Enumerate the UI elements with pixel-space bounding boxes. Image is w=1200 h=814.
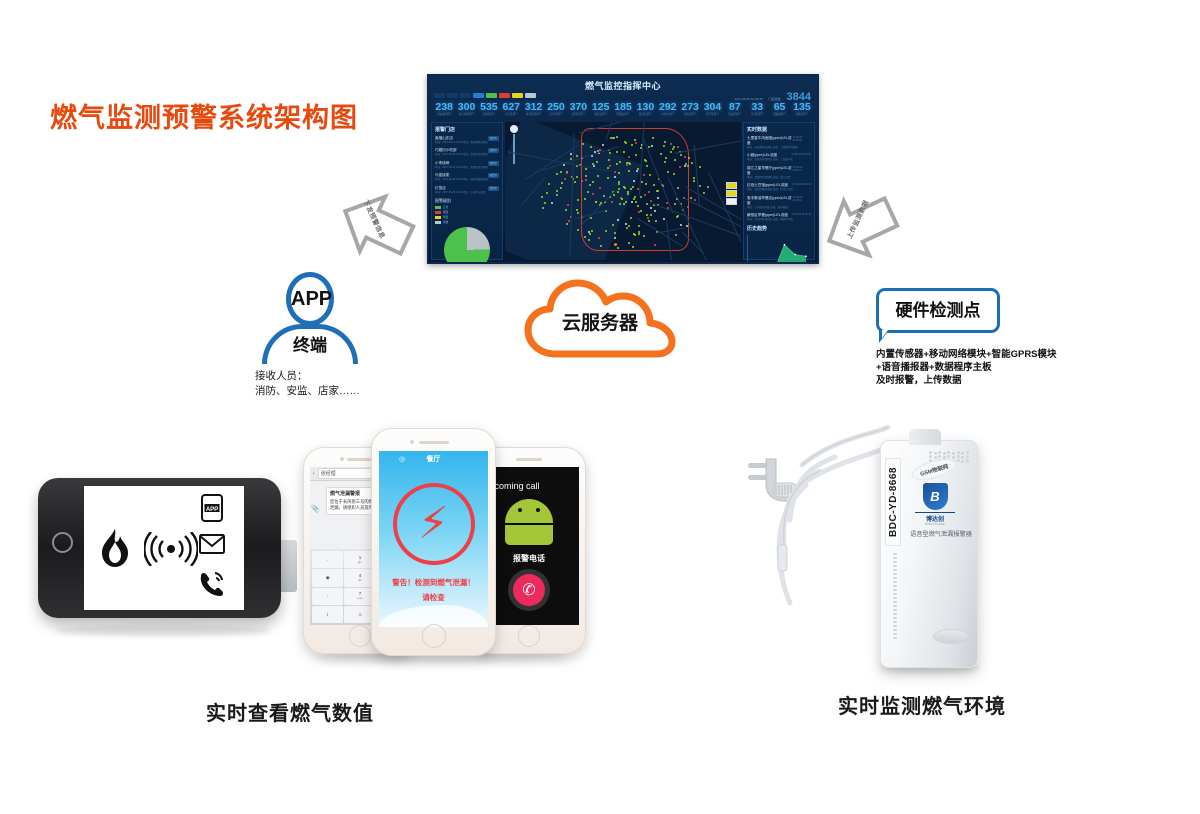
map-dot: [693, 177, 695, 179]
map-dot: [585, 175, 587, 177]
legend-title: 报警级别: [435, 198, 499, 204]
chip-status-warning[interactable]: [512, 93, 523, 98]
map-dot: [687, 165, 689, 167]
map-layer-button-3[interactable]: [726, 198, 737, 205]
detector-indicator: [933, 629, 969, 644]
alarm-header: ◎ 餐厅: [379, 451, 488, 467]
chip-normal[interactable]: [447, 93, 458, 98]
map-dot: [645, 183, 647, 185]
stat-item: 185阳曲县燃气: [612, 102, 634, 117]
alert-tag: 报警中: [488, 136, 499, 141]
keypad-key[interactable]: ◉: [312, 569, 343, 586]
alert-panel-title: 报警门店: [435, 126, 499, 133]
chip-all[interactable]: [434, 93, 445, 98]
map-dot: [566, 172, 568, 174]
legend-swatch: [435, 216, 441, 219]
stat-item: 312杏花岭区燃气: [522, 102, 544, 117]
android-robot-icon: [505, 499, 553, 545]
map-dot: [670, 151, 672, 153]
stat-item: 238万柏林区燃气: [433, 102, 455, 117]
map-dot: [618, 183, 620, 185]
app-terminal-body: 终端: [262, 324, 358, 364]
map-dot: [690, 197, 692, 199]
map-dot: [635, 201, 637, 203]
map-zoom-slider[interactable]: [510, 125, 518, 165]
hardware-note-line3: 及时报警，上传数据: [876, 374, 1057, 387]
map-dot: [688, 157, 690, 159]
phone-call-icon: [197, 570, 225, 603]
keypad-key-main: ☺: [358, 612, 363, 617]
dashboard-stat-row: 238万柏林区燃气300中心城区燃气535晋源区燃气627小店区燃气312杏花岭…: [433, 102, 813, 117]
stat-value: 87: [724, 102, 746, 113]
realtime-list[interactable]: 七里香牛肉面馆(ppm)LEL浓度17-05-26 16:38:45地址：万柏林…: [747, 136, 811, 221]
map-dot: [546, 192, 548, 194]
stat-value: 304: [701, 102, 723, 113]
map-dot: [640, 196, 642, 198]
detector-model-text: BDC-YD-8668: [888, 467, 899, 537]
realtime-detail: 地址：万柏林区长风街 店铺：七里香牛肉面馆: [747, 146, 811, 149]
cloud-server-label: 云服务器: [524, 308, 676, 335]
stat-item: 87综改区燃气: [724, 102, 746, 117]
map-dot: [637, 205, 639, 207]
page-title: 燃气监测预警系统架构图: [50, 96, 358, 135]
map-dot: [599, 187, 601, 189]
alert-detail: 时间：2017-05-26 16:21 地址：杏花岭区胜利街: [435, 153, 499, 156]
history-trend-chart: [747, 235, 811, 264]
dashboard-map[interactable]: [505, 122, 741, 260]
alarm-message-line1: 警告！检测到燃气泄漏！: [379, 577, 488, 588]
app-phone-icon: APP: [201, 494, 223, 527]
chip-offline[interactable]: [460, 93, 471, 98]
chip-status-normal[interactable]: [486, 93, 497, 98]
alert-detail: 时间：2017-05-26 15:12 地址：小店区长治路: [435, 191, 499, 194]
alarm-ring: ⚡: [393, 483, 475, 565]
map-dot: [585, 179, 587, 181]
brand-name: 博达创: [915, 512, 955, 523]
map-dot: [587, 191, 589, 193]
map-zoom-track[interactable]: [513, 134, 515, 164]
alert-list[interactable]: 鑫福山庄店报警中时间：2017-05-26 16:33 地址：万柏林区长风街巧媳…: [435, 136, 499, 194]
map-legend: 报警级别 正常报警预警离线: [435, 198, 499, 224]
keypad-key-main: .: [327, 557, 328, 562]
phone-speaker: [419, 441, 449, 444]
map-dot: [699, 185, 701, 187]
map-dot: [635, 154, 637, 156]
map-dot: [556, 194, 558, 196]
map-dot: [647, 217, 649, 219]
arrow-upstream: 上传监测数据: [822, 192, 900, 263]
cloud-server-icon: 云服务器: [524, 278, 676, 360]
map-dot: [626, 227, 628, 229]
detector-model-label: BDC-YD-8668: [885, 458, 901, 546]
hardware-note-line1: 内置传感器+移动网络模块+智能GPRS模块: [876, 348, 1057, 361]
map-dot: [576, 209, 578, 211]
paperclip-icon[interactable]: 📎: [310, 481, 321, 521]
stat-value: 238: [433, 102, 455, 113]
tablet-shadow: [55, 625, 270, 636]
realtime-name: 七里香牛肉面馆(ppm)LEL浓度: [747, 136, 793, 146]
realtime-name: 惠丰粮油早餐店(ppm)LEL浓度: [747, 196, 793, 206]
stat-value: 135: [791, 102, 813, 113]
map-dot: [693, 180, 695, 182]
map-dot: [627, 191, 629, 193]
legend-swatch: [435, 211, 441, 214]
stat-caption: 经开区燃气: [701, 113, 723, 117]
stat-value: 33: [746, 102, 768, 113]
realtime-time: 17-05-26 16:31:27: [793, 166, 811, 176]
map-dot: [631, 201, 633, 203]
alarm-header-title: 餐厅: [427, 454, 441, 464]
map-dot: [675, 234, 677, 236]
map-dot: [636, 170, 638, 172]
realtime-time: 17-05-26 16:36:02: [791, 153, 811, 158]
keypad-key-main: ◉: [326, 575, 330, 580]
realtime-detail: 地址：尖草坪区迎新街 店铺：解放区早餐: [747, 218, 811, 221]
phone-home-button[interactable]: [422, 624, 446, 648]
map-dot: [677, 187, 679, 189]
alert-item[interactable]: 巧媳妇小吃部报警中时间：2017-05-26 16:21 地址：杏花岭区胜利街: [435, 148, 499, 156]
alert-item[interactable]: 小李烧烤报警中时间：2017-05-26 16:02 地址：晋源区新晋祠路: [435, 161, 499, 169]
alarm-message-line2: 请检查: [379, 592, 488, 603]
hardware-point-box: 硬件检测点: [876, 288, 1000, 333]
hardware-note-line2: +语音播报器+数据程序主板: [876, 361, 1057, 374]
stat-value: 250: [545, 102, 567, 113]
dashboard-screen: 燃气监控指挥中心 2017-05-26 16:38:45 门店总数 3844 2…: [427, 74, 819, 264]
map-dot: [703, 192, 705, 194]
stat-item: 627小店区燃气: [500, 102, 522, 117]
stat-item: 135其他区燃气: [791, 102, 813, 117]
dashboard-realtime-panel: 实时数据 七里香牛肉面馆(ppm)LEL浓度17-05-26 16:38:45地…: [743, 122, 815, 260]
hardware-box-tail-inner: [882, 330, 888, 338]
realtime-time: 17-05-26 16:28:10: [791, 183, 811, 188]
map-dot: [556, 173, 558, 175]
stat-value: 370: [567, 102, 589, 113]
map-dot: [648, 146, 650, 148]
phone-home-button[interactable]: [349, 625, 371, 647]
legend-label: 离线: [443, 220, 448, 224]
stat-caption: 万柏林区燃气: [433, 113, 455, 117]
stat-item: 130娄烦县燃气: [634, 102, 656, 117]
legend-label: 预警: [443, 215, 448, 219]
alert-item[interactable]: 马富烧麦报警中时间：2017-05-26 15:46 地址：迎泽区解放南路: [435, 173, 499, 181]
map-dot: [609, 152, 611, 154]
realtime-panel-title: 实时数据: [747, 126, 811, 133]
map-dot: [589, 184, 591, 186]
realtime-item[interactable]: 红烧土豆馆(ppm)LEL浓度17-05-26 16:28:10地址：迎泽区解放…: [747, 183, 811, 191]
realtime-detail: 地址：小店区长治路 店铺：惠丰粮油: [747, 206, 811, 209]
keypad-key-sub: pqrs: [357, 596, 362, 601]
detector-brand-logo: B 博达创 BODACHUANG: [915, 483, 955, 526]
tablet-home-button[interactable]: [52, 532, 73, 553]
keypad-key-sub: @/:: [358, 560, 362, 565]
alert-tag: 报警中: [488, 148, 499, 153]
map-dot: [707, 186, 709, 188]
gas-detector-device: BDC-YD-8668 GSM物联网 B 博达创 BODACHUANG 语音型燃…: [880, 440, 978, 668]
stat-item: 250尖草坪燃气: [545, 102, 567, 117]
alert-detail: 时间：2017-05-26 15:46 地址：迎泽区解放南路: [435, 178, 499, 181]
stat-item: 125清徐县燃气: [590, 102, 612, 117]
map-dot: [551, 202, 553, 204]
brand-mark-icon: B: [923, 483, 948, 510]
map-dot: [619, 161, 621, 163]
chip-status-alarm[interactable]: [499, 93, 510, 98]
map-dot: [621, 198, 623, 200]
realtime-detail: 地址：杏花岭区胜利街 店铺：上海城小吃: [747, 158, 811, 161]
stat-caption: 迎泽区燃气: [567, 113, 589, 117]
map-dot: [610, 137, 612, 139]
alert-tag: 报警中: [488, 173, 499, 178]
map-dot: [653, 184, 655, 186]
terminal-note-line2: 消防、安监、店家……: [255, 384, 360, 399]
stat-caption: 娄烦县燃气: [634, 113, 656, 117]
stat-item: 65阳曲镇燃气: [768, 102, 790, 117]
phone-hangup-icon[interactable]: ✆: [513, 574, 545, 606]
map-dot: [626, 162, 628, 164]
trend-svg: [748, 237, 810, 264]
map-dot: [684, 165, 686, 167]
map-dot: [577, 229, 579, 231]
map-dot: [664, 141, 666, 143]
legend-item: 离线: [435, 220, 499, 224]
tablet-screen: APP: [84, 486, 244, 610]
stat-value: 125: [590, 102, 612, 113]
alert-detail: 时间：2017-05-26 16:02 地址：晋源区新晋祠路: [435, 166, 499, 169]
map-dot: [632, 246, 634, 248]
map-dot: [674, 159, 676, 161]
stat-value: 185: [612, 102, 634, 113]
map-dot: [582, 143, 584, 145]
map-dot: [541, 196, 543, 198]
map-dot: [628, 225, 630, 227]
realtime-item[interactable]: 锦江之星早餐厅(ppm)LEL浓度17-05-26 16:31:27地址：晋源区…: [747, 166, 811, 179]
map-dot: [581, 180, 583, 182]
keypad-key[interactable]: :: [312, 588, 343, 605]
stat-caption: 阳曲镇燃气: [768, 113, 790, 117]
map-dot: [612, 224, 614, 226]
stat-item: 273高新区燃气: [679, 102, 701, 117]
status-pie-chart: [444, 227, 490, 264]
stat-caption: 晋源区燃气: [478, 113, 500, 117]
phone-speaker: [516, 458, 542, 461]
stat-item: 304经开区燃气: [701, 102, 723, 117]
stat-item: 370迎泽区燃气: [567, 102, 589, 117]
stat-caption: 杏花岭区燃气: [522, 113, 544, 117]
map-dot: [617, 191, 619, 193]
phone-camera: [410, 440, 414, 444]
map-dot: [694, 199, 696, 201]
keypad-key-main: :: [327, 594, 328, 599]
phone-alarm: ◎ 餐厅 ⚡ 警告！检测到燃气泄漏！ 请检查: [371, 428, 496, 656]
alert-item[interactable]: 鑫福山庄店报警中时间：2017-05-26 16:33 地址：万柏林区长风街: [435, 136, 499, 144]
phone-alarm-screen: ◎ 餐厅 ⚡ 警告！检测到燃气泄漏！ 请检查: [379, 451, 488, 627]
legend-label: 正常: [443, 205, 448, 209]
detector-gsm-badge-text: GSM物联网: [919, 462, 949, 478]
stat-caption: 示范区燃气: [746, 113, 768, 117]
lightning-bolt-icon: ⚡: [418, 502, 449, 546]
stat-value: 65: [768, 102, 790, 113]
map-dot: [646, 165, 648, 167]
hardware-note: 内置传感器+移动网络模块+智能GPRS模块 +语音播报器+数据程序主板 及时报警…: [876, 348, 1057, 387]
alert-tag: 报警中: [488, 161, 499, 166]
alert-tag: 报警中: [488, 186, 499, 191]
stat-caption: 尖草坪燃气: [545, 113, 567, 117]
stat-caption: 其他区燃气: [791, 113, 813, 117]
envelope-icon: [199, 534, 225, 559]
stat-value: 312: [522, 102, 544, 113]
map-road: [694, 145, 700, 207]
app-terminal-head: APP: [286, 272, 334, 326]
realtime-item[interactable]: 惠丰粮油早餐店(ppm)LEL浓度17-05-26 16:19:44地址：小店区…: [747, 196, 811, 209]
app-terminal-head-label: APP: [291, 277, 329, 321]
chip-status-offline[interactable]: [525, 93, 536, 98]
realtime-time: 17-05-26 16:38:45: [793, 136, 811, 146]
stat-caption: 清徐县燃气: [590, 113, 612, 117]
chip-alarm[interactable]: [473, 93, 484, 98]
dashboard-filter-chips[interactable]: [434, 93, 536, 98]
caption-right: 实时监测燃气环境: [838, 690, 1006, 719]
stat-item: 535晋源区燃气: [478, 102, 500, 117]
realtime-time: 17-05-26 16:19:44: [793, 196, 811, 206]
svg-text:APP: APP: [206, 507, 218, 513]
detector-description: 语音型燃气泄漏报警器: [907, 529, 975, 538]
stat-value: 292: [657, 102, 679, 113]
phone-home-button[interactable]: [518, 625, 540, 647]
stat-caption: 阳曲县燃气: [612, 113, 634, 117]
keypad-key-sub: ghi: [358, 578, 362, 583]
map-dot: [603, 195, 605, 197]
realtime-item[interactable]: 七里香牛肉面馆(ppm)LEL浓度17-05-26 16:38:45地址：万柏林…: [747, 136, 811, 149]
realtime-item[interactable]: 解放区早餐(ppm)LEL浓度17-05-26 16:05:33地址：尖草坪区迎…: [747, 213, 811, 221]
map-dot: [591, 230, 593, 232]
map-dot: [699, 166, 701, 168]
stat-value: 627: [500, 102, 522, 113]
brand-name-en: BODACHUANG: [915, 523, 955, 526]
flame-icon: [100, 528, 130, 573]
stat-item: 292古交市燃气: [657, 102, 679, 117]
legend-item: 正常: [435, 205, 499, 209]
stat-caption: 综改区燃气: [724, 113, 746, 117]
keypad-key[interactable]: .: [312, 551, 343, 568]
hardware-point-title: 硬件检测点: [879, 291, 997, 330]
map-dot: [616, 151, 618, 153]
map-dot: [570, 153, 572, 155]
stat-caption: 小店区燃气: [500, 113, 522, 117]
stat-item: 33示范区燃气: [746, 102, 768, 117]
stat-value: 130: [634, 102, 656, 113]
map-dot: [629, 163, 631, 165]
legend-swatch: [435, 206, 441, 209]
alert-name: 灯笼店: [435, 186, 446, 191]
sms-back-button[interactable]: ‹: [313, 471, 315, 477]
alert-detail: 时间：2017-05-26 16:33 地址：万柏林区长风街: [435, 141, 499, 144]
stat-caption: 高新区燃气: [679, 113, 701, 117]
terminal-note: 接收人员： 消防、安监、店家……: [255, 369, 360, 399]
stat-caption: 中心城区燃气: [455, 113, 477, 117]
stat-value: 300: [455, 102, 477, 113]
map-dot: [597, 175, 599, 177]
dashboard-alert-panel: 报警门店 鑫福山庄店报警中时间：2017-05-26 16:33 地址：万柏林区…: [431, 122, 503, 260]
tablet-device: APP: [38, 478, 281, 618]
realtime-item[interactable]: 小超(ppm)LEL浓度17-05-26 16:36:02地址：杏花岭区胜利街 …: [747, 153, 811, 161]
map-dot: [614, 176, 616, 178]
arrow-downstream: 下发预警信息: [338, 192, 416, 263]
realtime-name: 锦江之星早餐厅(ppm)LEL浓度: [747, 166, 793, 176]
map-layer-button-1[interactable]: [726, 182, 737, 189]
map-dot: [618, 188, 620, 190]
map-dot: [643, 174, 645, 176]
map-dot: [556, 190, 558, 192]
map-dot: [584, 198, 586, 200]
legend-item: 预警: [435, 215, 499, 219]
map-dot: [663, 145, 665, 147]
map-dot: [672, 148, 674, 150]
stat-value: 273: [679, 102, 701, 113]
detector-side-grill: [893, 553, 898, 639]
signal-wave-icon: [144, 532, 198, 571]
legend-item: 报警: [435, 210, 499, 214]
realtime-detail: 地址：晋源区新晋祠路 店铺：锦江之星: [747, 176, 811, 179]
map-dot: [670, 143, 672, 145]
map-dot: [618, 172, 620, 174]
phone-camera: [340, 457, 344, 461]
map-dot: [667, 171, 669, 173]
legend-label: 报警: [443, 210, 448, 214]
legend-swatch: [435, 221, 441, 224]
phone-speaker: [347, 458, 373, 461]
caption-left: 实时查看燃气数值: [206, 697, 374, 726]
map-zoom-knob[interactable]: [510, 125, 518, 133]
trend-title: 历史趋势: [747, 225, 811, 232]
location-pin-icon: ◎: [399, 455, 405, 463]
stat-caption: 古交市燃气: [657, 113, 679, 117]
map-dot: [607, 167, 609, 169]
terminal-note-line1: 接收人员：: [255, 369, 360, 384]
app-terminal-body-label: 终端: [267, 329, 353, 363]
map-dot: [609, 165, 611, 167]
keypad-key-main: /: [327, 612, 328, 617]
stat-item: 300中心城区燃气: [455, 102, 477, 117]
map-dot: [656, 190, 658, 192]
keypad-key[interactable]: /: [312, 606, 343, 623]
realtime-time: 17-05-26 16:05:33: [791, 213, 811, 218]
map-dot: [619, 203, 621, 205]
stat-value: 535: [478, 102, 500, 113]
map-layer-button-2[interactable]: [726, 190, 737, 197]
map-dot: [598, 237, 600, 239]
alert-item[interactable]: 灯笼店报警中时间：2017-05-26 15:12 地址：小店区长治路: [435, 186, 499, 194]
realtime-detail: 地址：迎泽区解放南路 店铺：红烧土豆馆: [747, 188, 811, 191]
map-dot: [691, 162, 693, 164]
map-dot: [651, 145, 653, 147]
map-dot: [628, 170, 630, 172]
map-dot: [626, 164, 628, 166]
detector-cable-boot: [909, 429, 941, 445]
app-terminal-icon: APP 终端: [262, 272, 358, 364]
